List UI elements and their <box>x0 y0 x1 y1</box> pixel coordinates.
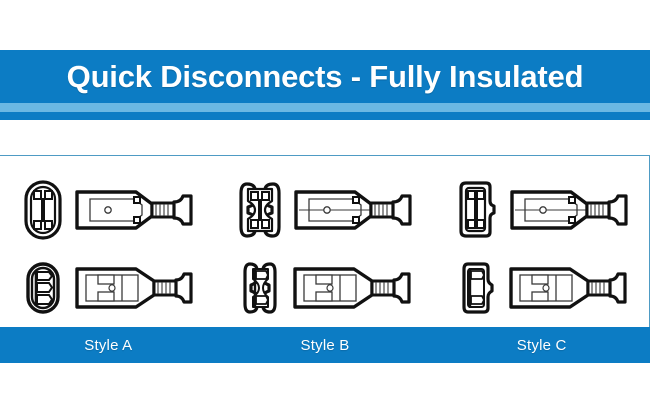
column-style-b <box>217 156 434 326</box>
style-label-c: Style C <box>433 327 650 363</box>
style-label-bar: Style A Style B Style C <box>0 327 650 363</box>
row-style-c-male <box>433 170 650 250</box>
column-style-a <box>0 156 217 326</box>
end-view-oval-i-beam-icon <box>22 179 64 241</box>
side-view-female-receptacle-icon <box>292 260 412 316</box>
side-view-female-receptacle-icon <box>508 260 628 316</box>
end-view-flared-hourglass-b-shape-icon <box>238 260 282 316</box>
row-style-a-female <box>0 248 217 328</box>
side-view-female-receptacle-icon <box>74 260 194 316</box>
row-style-c-female <box>433 248 650 328</box>
header-stripe-light <box>0 103 650 112</box>
slide-page: Quick Disconnects - Fully Insulated <box>0 0 650 416</box>
side-view-male-tab-icon <box>509 182 629 238</box>
row-style-a-male <box>0 170 217 250</box>
end-view-flared-hourglass-i-beam-icon <box>237 179 283 241</box>
side-view-male-tab-icon <box>74 182 194 238</box>
style-label-a: Style A <box>0 327 217 363</box>
diagram-grid <box>0 156 650 326</box>
row-style-b-female <box>217 248 434 328</box>
header-stripe-dark <box>0 112 650 120</box>
page-title: Quick Disconnects - Fully Insulated <box>0 50 650 103</box>
end-view-rounded-rect-i-beam-icon <box>455 179 499 241</box>
end-view-oval-b-shape-icon <box>22 260 64 316</box>
row-style-b-male <box>217 170 434 250</box>
style-label-b: Style B <box>217 327 434 363</box>
column-style-c <box>433 156 650 326</box>
side-view-male-tab-icon <box>293 182 413 238</box>
end-view-rounded-rect-b-shape-icon <box>456 260 498 316</box>
